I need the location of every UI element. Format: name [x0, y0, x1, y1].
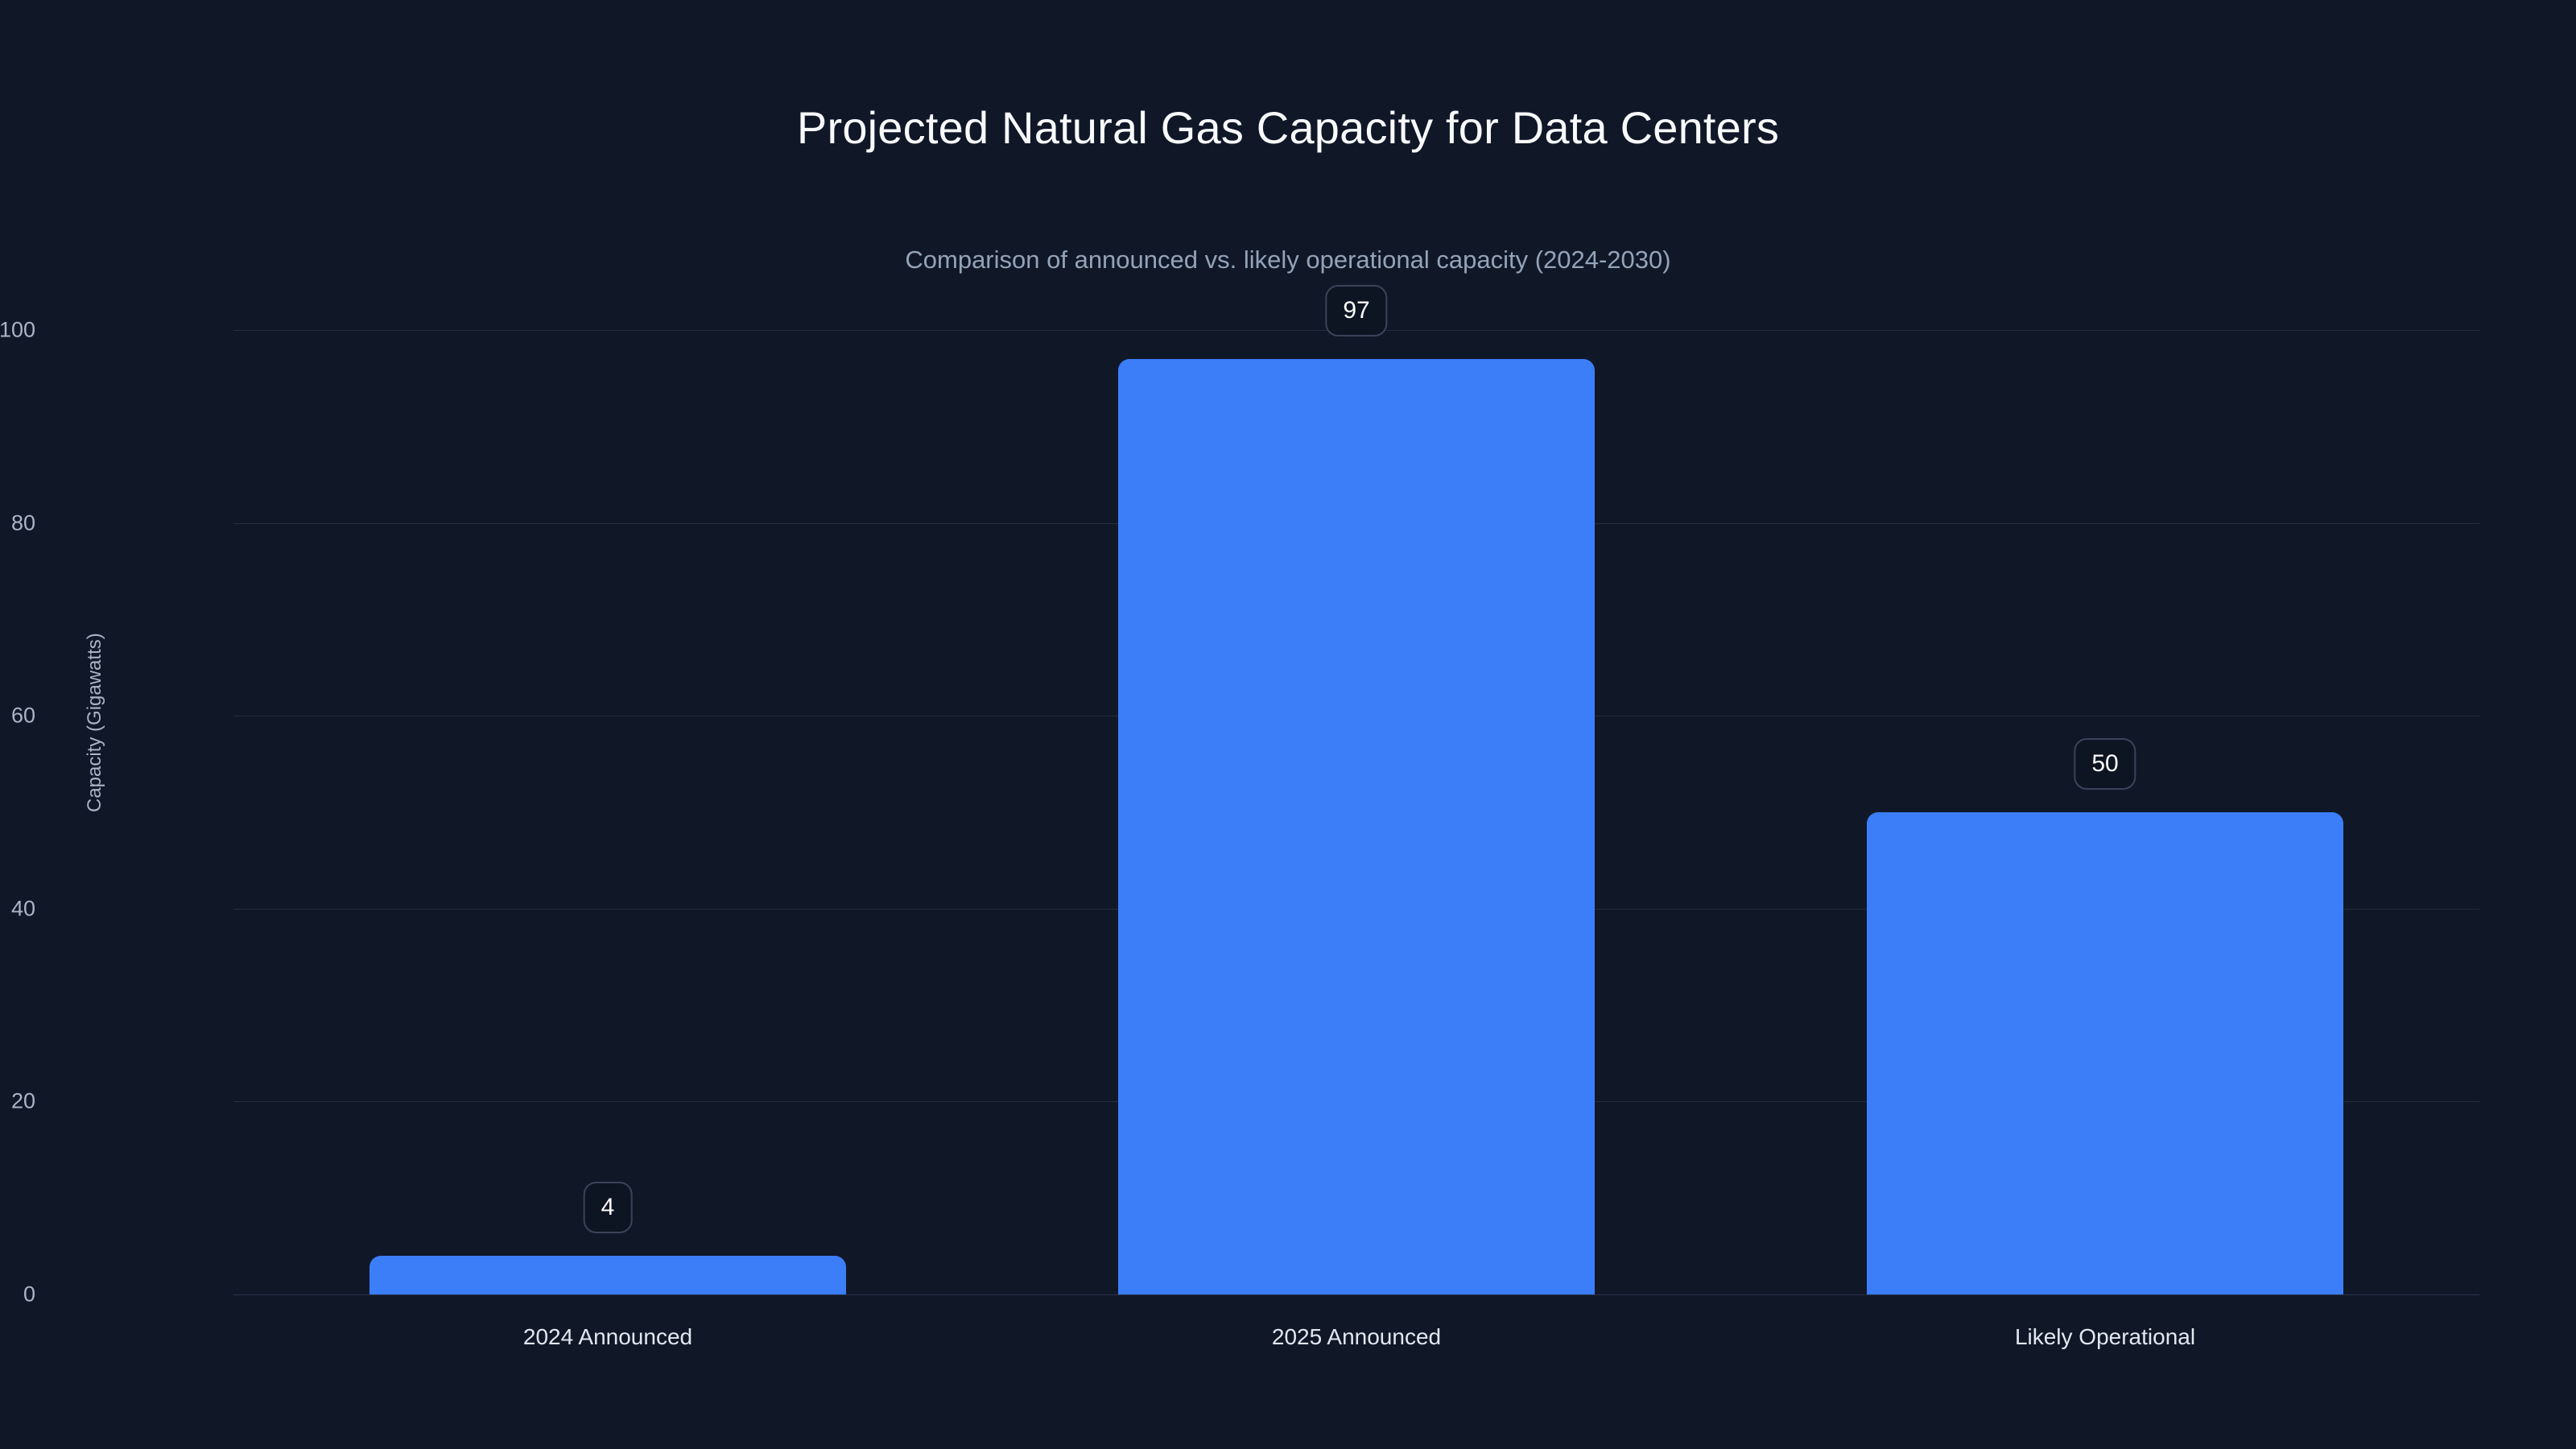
gridline-0: [233, 1294, 2479, 1295]
plot-area: [233, 330, 2479, 1294]
y-tick-label-60: 60: [11, 704, 35, 729]
bar[interactable]: [1118, 359, 1595, 1294]
bar-value-label: 50: [2074, 738, 2136, 790]
x-tick-label: 2024 Announced: [523, 1324, 692, 1350]
x-tick-label: 2025 Announced: [1272, 1324, 1441, 1350]
y-tick-label-0: 0: [23, 1282, 35, 1307]
y-tick-label-100: 100: [0, 318, 35, 343]
y-axis-title: Capacity (Gigawatts): [84, 633, 106, 812]
chart-subtitle: Comparison of announced vs. likely opera…: [0, 246, 2576, 275]
y-tick-label-40: 40: [11, 896, 35, 921]
bar[interactable]: [1867, 812, 2343, 1294]
y-tick-label-20: 20: [11, 1089, 35, 1114]
y-tick-label-80: 80: [11, 510, 35, 535]
bar-value-label: 4: [584, 1182, 633, 1233]
bar[interactable]: [369, 1256, 846, 1294]
x-tick-label: Likely Operational: [2015, 1324, 2195, 1350]
chart-title: Projected Natural Gas Capacity for Data …: [0, 101, 2576, 154]
bar-chart-canvas: Projected Natural Gas Capacity for Data …: [0, 0, 2576, 1449]
bar-value-label: 97: [1325, 285, 1387, 336]
